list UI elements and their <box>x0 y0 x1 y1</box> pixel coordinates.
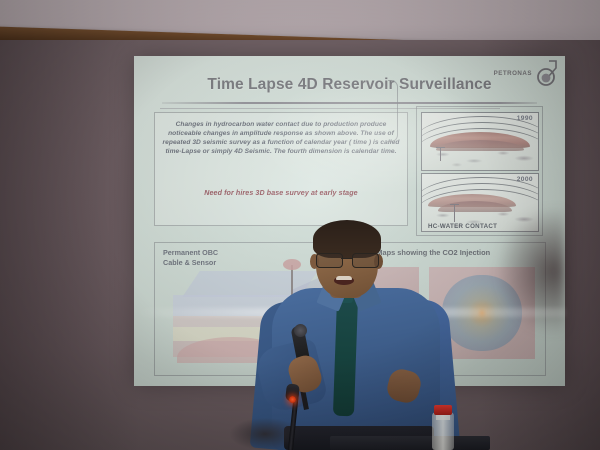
slide-text-box: Changes in hydrocarbon water contact due… <box>154 112 408 226</box>
slide-paragraph: Changes in hydrocarbon water contact due… <box>161 120 401 156</box>
table-edge <box>330 436 490 450</box>
title-divider <box>162 102 537 104</box>
water-bottle-cap <box>434 405 452 415</box>
seismic-year-label-2000: 2000 <box>517 176 533 183</box>
eyeglasses-icon <box>315 253 379 266</box>
presentation-photo: PETRONAS Time Lapse 4D Reservoir Surveil… <box>0 0 600 450</box>
hc-water-contact-label: HC-WATER CONTACT <box>428 223 497 230</box>
seismic-year-label-1990: 1990 <box>517 115 533 122</box>
obc-panel-title: Permanent OBC Cable & Sensor <box>163 248 218 268</box>
necktie <box>333 296 358 417</box>
speaker-shadow-on-screen <box>495 206 565 336</box>
slide-headline: Need for hires 3D base survey at early s… <box>161 189 401 197</box>
curly-brace-icon <box>388 80 398 142</box>
seismic-section-1990: 1990 <box>421 112 539 171</box>
slide-title: Time Lapse 4D Reservoir Surveillance <box>134 76 565 94</box>
teeth <box>336 276 352 280</box>
obc-title-line2: Cable & Sensor <box>163 258 216 267</box>
microphone-power-led <box>289 396 296 403</box>
obc-title-line1: Permanent OBC <box>163 248 218 257</box>
wall-left-shadow <box>0 40 140 450</box>
